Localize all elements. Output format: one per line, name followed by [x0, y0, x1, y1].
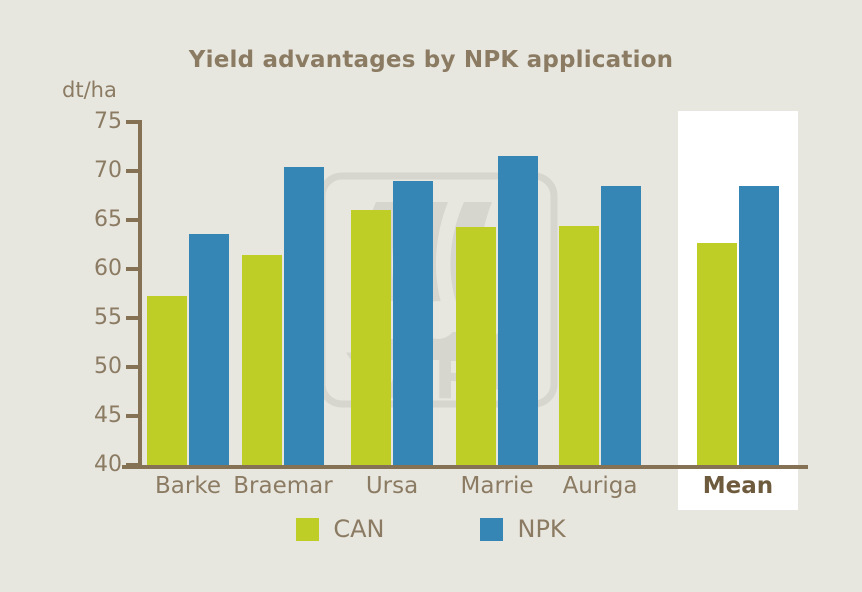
bar-barke-can[interactable]	[147, 296, 187, 465]
legend-item-can[interactable]: CAN	[296, 515, 384, 543]
chart-legend: CAN NPK	[0, 515, 862, 543]
bar-group-ursa	[351, 120, 433, 465]
y-tick-75	[126, 120, 142, 124]
y-tick-55	[126, 316, 142, 320]
y-tick-70	[126, 169, 142, 173]
bar-group-mean	[697, 120, 779, 465]
x-axis-label-mean: Mean	[658, 473, 818, 499]
y-tick-60	[126, 267, 142, 271]
bar-group-auriga	[559, 120, 641, 465]
bar-ursa-npk[interactable]	[393, 181, 433, 465]
legend-item-npk[interactable]: NPK	[480, 515, 565, 543]
bar-group-marrie	[456, 120, 538, 465]
bar-marrie-can[interactable]	[456, 227, 496, 465]
y-tick-65	[126, 218, 142, 222]
bar-mean-can[interactable]	[697, 243, 737, 465]
y-tick-label-65: 65	[52, 205, 122, 235]
legend-label-npk: NPK	[517, 515, 565, 543]
legend-swatch-npk-icon	[480, 518, 503, 541]
bars-layer	[138, 120, 808, 465]
y-tick-label-45: 45	[52, 401, 122, 431]
x-axis-line	[122, 465, 808, 469]
bar-barke-npk[interactable]	[189, 234, 229, 465]
chart-container: Yield advantages by NPK application dt/h…	[0, 0, 862, 592]
bar-mean-npk[interactable]	[739, 186, 779, 465]
legend-swatch-can-icon	[296, 518, 319, 541]
y-tick-45	[126, 414, 142, 418]
bar-auriga-npk[interactable]	[601, 186, 641, 465]
y-axis-unit-label: dt/ha	[62, 78, 117, 102]
bar-group-barke	[147, 120, 229, 465]
bar-marrie-npk[interactable]	[498, 156, 538, 465]
bar-auriga-can[interactable]	[559, 226, 599, 465]
x-axis-label-auriga: Auriga	[520, 473, 680, 499]
legend-label-can: CAN	[333, 515, 384, 543]
bar-braemar-npk[interactable]	[284, 167, 324, 465]
y-tick-label-50: 50	[52, 352, 122, 382]
bar-ursa-can[interactable]	[351, 210, 391, 465]
y-tick-50	[126, 365, 142, 369]
y-tick-label-60: 60	[52, 254, 122, 284]
y-tick-label-75: 75	[52, 107, 122, 137]
bar-group-braemar	[242, 120, 324, 465]
bar-braemar-can[interactable]	[242, 255, 282, 465]
y-tick-label-70: 70	[52, 156, 122, 186]
chart-title: Yield advantages by NPK application	[0, 47, 862, 73]
y-tick-label-55: 55	[52, 303, 122, 333]
